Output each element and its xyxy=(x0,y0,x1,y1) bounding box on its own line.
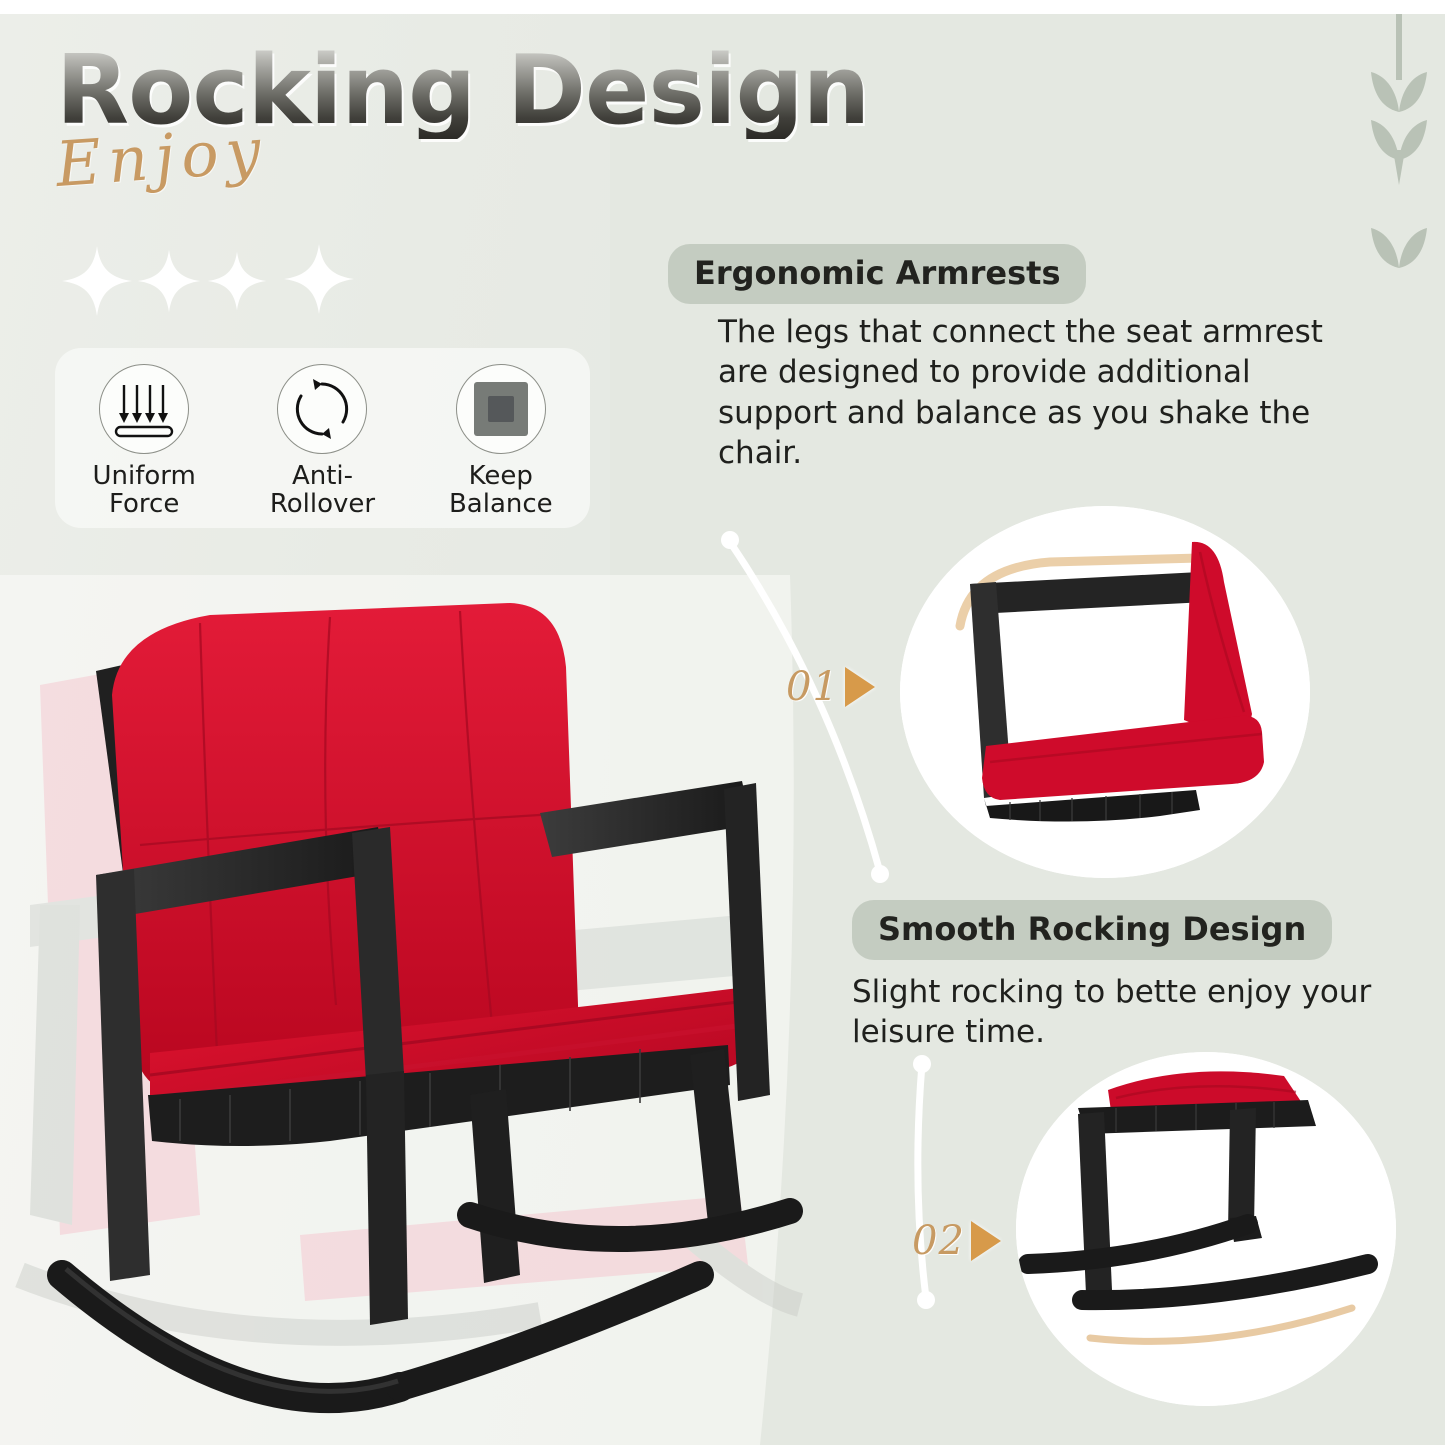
detail-circle-rocker-base xyxy=(1016,1052,1396,1406)
block-body-1: The legs that connect the seat armrest a… xyxy=(718,312,1358,473)
callout-arrow-icon xyxy=(845,667,875,707)
feature-label-line2: Balance xyxy=(449,489,553,519)
block-heading-pill-1: Ergonomic Armrests xyxy=(668,244,1086,304)
circular-rotation-arrows-icon xyxy=(277,364,367,454)
top-white-strip xyxy=(0,0,1445,14)
callout-marker-1: 01 xyxy=(786,664,875,710)
sparkle-icon xyxy=(282,242,356,316)
sparkle-icon xyxy=(60,244,134,318)
feature-label-line1: Anti-Rollover xyxy=(270,461,375,519)
product-photo-rocking-chair xyxy=(0,575,820,1445)
feature-label-line1: Keep xyxy=(469,461,533,491)
feature-badge-card: Uniform Force Anti-Rollover xyxy=(55,348,590,528)
callout-number-2: 02 xyxy=(912,1218,965,1264)
callout-number-1: 01 xyxy=(786,664,839,710)
nested-squares-icon xyxy=(456,364,546,454)
downward-arrows-on-plate-icon xyxy=(99,364,189,454)
block-body-2: Slight rocking to bette enjoy your leisu… xyxy=(852,972,1412,1053)
feature-label-line2: Force xyxy=(109,489,179,519)
feature-keep-balance: Keep Balance xyxy=(418,364,583,518)
infographic-canvas: Rocking Design Enjoy xyxy=(0,0,1445,1445)
feature-label-line1: Uniform xyxy=(92,461,195,491)
sparkle-icon xyxy=(136,248,202,314)
feature-anti-rollover: Anti-Rollover xyxy=(240,364,405,518)
script-accent-word: Enjoy xyxy=(53,113,269,201)
block-heading-pill-2: Smooth Rocking Design xyxy=(852,900,1332,960)
sparkle-decoration-group xyxy=(60,238,380,324)
detail-circle-armrest xyxy=(900,506,1310,878)
feature-uniform-force: Uniform Force xyxy=(62,364,227,518)
wheat-chevron-ornament-icon xyxy=(1335,0,1445,280)
sparkle-icon xyxy=(206,250,268,312)
callout-arrow-icon xyxy=(971,1221,1001,1261)
callout-marker-2: 02 xyxy=(912,1218,1001,1264)
